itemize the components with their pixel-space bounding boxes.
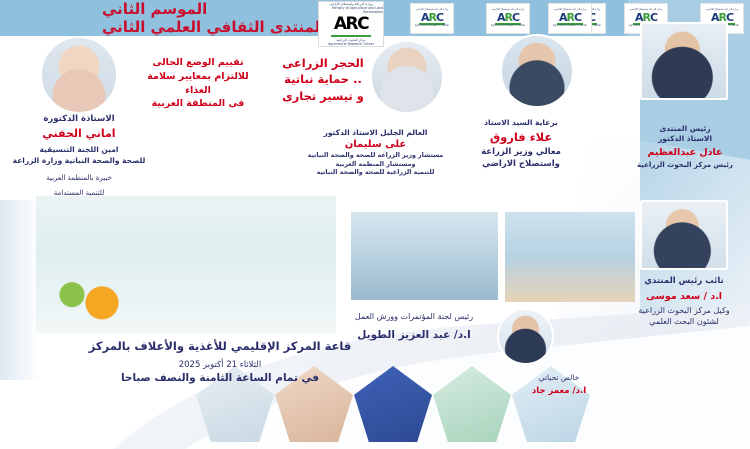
forum-head-name: عادل عبدالعظيم <box>622 147 748 158</box>
theme-quarantine-line-1: الحجر الزراعى <box>264 55 382 71</box>
theme-agricultural-quarantine: الحجر الزراعى .. حماية نباتية و تيسير تج… <box>264 55 382 104</box>
arc-logo-small: وزارة الزراعة واستصلاح الأراضي ARC Agric… <box>548 3 592 34</box>
event-details: قاعة المركز الإقليمي للأغذية والأعلاف با… <box>70 338 370 384</box>
theme-quarantine-line-3: و تيسير تجارى <box>264 88 382 104</box>
theme-food-safety-line-2: للالتزام بمعايير سلامة الغذاء <box>138 70 258 98</box>
vice-head-sub-1: وكيل مركز البحوث الزراعية <box>620 306 748 317</box>
arc-logo-rule <box>331 35 371 37</box>
person-speaker-left: الاستاذة الدكتورة اماني الحفني امين اللج… <box>0 114 158 198</box>
regards-signature: ا.د/ معمر جاد <box>504 386 614 396</box>
forum-head-role-2: الاستاذ الدكتور <box>622 134 748 144</box>
portrait-speaker-center <box>370 40 444 114</box>
speaker-left-name: اماني الحفني <box>0 127 158 140</box>
arc-logo-center-en: Agricultural Research Center <box>553 25 587 27</box>
theme-food-safety: تقييم الوضع الحالى للالتزام بمعايير سلام… <box>138 56 258 111</box>
arc-logo-wordmark: ARC <box>497 12 519 23</box>
arc-logo-small: وزارة الزراعة واستصلاح الأراضي ARC Agric… <box>410 3 454 34</box>
theme-food-safety-line-3: فى المنطقة العربية <box>138 97 258 111</box>
vice-head-sub-2: لشئون البحث العلمي <box>620 317 748 328</box>
event-time: في تمام الساعة الثامنة والنصف صباحا <box>70 372 370 384</box>
event-venue: قاعة المركز الإقليمي للأغذية والأعلاف با… <box>70 338 370 354</box>
forum-head-role-1: رئيس المنتدى <box>622 124 748 134</box>
image-packing-facility <box>351 212 498 300</box>
speaker-center-sub-2: ومستشار المنظمة العربية <box>293 161 458 170</box>
speaker-left-affil-1: خبيرة بالمنظمة العربية <box>0 173 158 183</box>
image-vegetable-inspection <box>505 212 635 302</box>
speaker-center-role: العالم الجليل الاستاذ الدكتور <box>293 128 458 138</box>
patron-sub-1: معالي وزير الزراعة <box>446 147 596 158</box>
speaker-left-sub-2: للصحة والصحة النباتية وزارة الزراعة <box>0 156 158 166</box>
theme-food-safety-line-1: تقييم الوضع الحالى <box>138 56 258 70</box>
arc-logo-center-en: Agricultural Research Center <box>415 25 449 27</box>
arc-logo-ministry-en: Ministry of Agriculture and Land Reclama… <box>319 6 383 14</box>
forum-head-sub-1: رئيس مركز البحوث الزراعية <box>622 161 748 170</box>
arc-logo-wordmark: ARC <box>421 12 443 23</box>
arc-logo-wordmark: ARC <box>559 12 581 23</box>
regards-greeting: خالص تحياتي <box>504 373 614 382</box>
event-date: الثلاثاء 21 أكتوبر 2025 <box>70 360 370 370</box>
regards-block: خالص تحياتي ا.د/ معمر جاد <box>504 373 614 396</box>
person-speaker-center: العالم الجليل الاستاذ الدكتور على سليمان… <box>293 128 458 178</box>
portrait-forum-head <box>640 22 728 100</box>
patron-sub-2: واستصلاح الاراضي <box>446 159 596 170</box>
arc-logo-center-en: Agricultural Research Center <box>328 42 374 46</box>
speaker-center-sub-1: مستشار وزير الزراعة للصحة والصحة النباتي… <box>293 152 458 161</box>
poster-canvas: الموسم الثاني المنتدى الثقافي العلمي الث… <box>0 0 750 449</box>
theme-quarantine-line-2: .. حماية نباتية <box>264 71 382 87</box>
portrait-speaker-left <box>40 36 118 114</box>
patron-role: برعاية السيد الاستاذ <box>446 118 596 128</box>
arc-logo-primary: وزارة الزراعة واستصلاح الأراضي Ministry … <box>318 1 384 47</box>
portrait-vice-head <box>640 200 728 270</box>
arc-logo-center-en: Agricultural Research Center <box>491 25 525 27</box>
person-patron-minister: برعاية السيد الاستاذ علاء فاروق معالي وز… <box>446 118 596 170</box>
vice-head-name: ا.د / سعد موسى <box>620 291 748 302</box>
left-gradient-fade <box>0 200 40 380</box>
portrait-conference-chair <box>497 308 554 365</box>
portrait-minister <box>500 34 574 108</box>
vice-head-role: نائب رئيس المنتدي <box>620 276 748 287</box>
arc-logo-small: وزارة الزراعة واستصلاح الأراضي ARC Agric… <box>486 3 530 34</box>
person-forum-vice-head: نائب رئيس المنتدي ا.د / سعد موسى وكيل مر… <box>620 276 748 328</box>
speaker-left-sub-1: امين اللجنة التنسيقية <box>0 145 158 155</box>
speaker-left-role: الاستاذة الدكتورة <box>0 114 158 125</box>
patron-name: علاء فاروق <box>446 130 596 144</box>
person-forum-head: رئيس المنتدى الاستاذ الدكتور عادل عبدالع… <box>622 124 748 171</box>
image-lab-food-testing <box>36 196 336 333</box>
arc-logo-wordmark: ARC <box>334 14 368 34</box>
speaker-center-sub-3: للتنمية الزراعية للصحة والصحة النباتية <box>293 169 458 178</box>
conference-chair-role: رئيس لجنة المؤتمرات وورش العمل <box>330 312 498 323</box>
speaker-center-name: على سليمان <box>293 139 458 150</box>
